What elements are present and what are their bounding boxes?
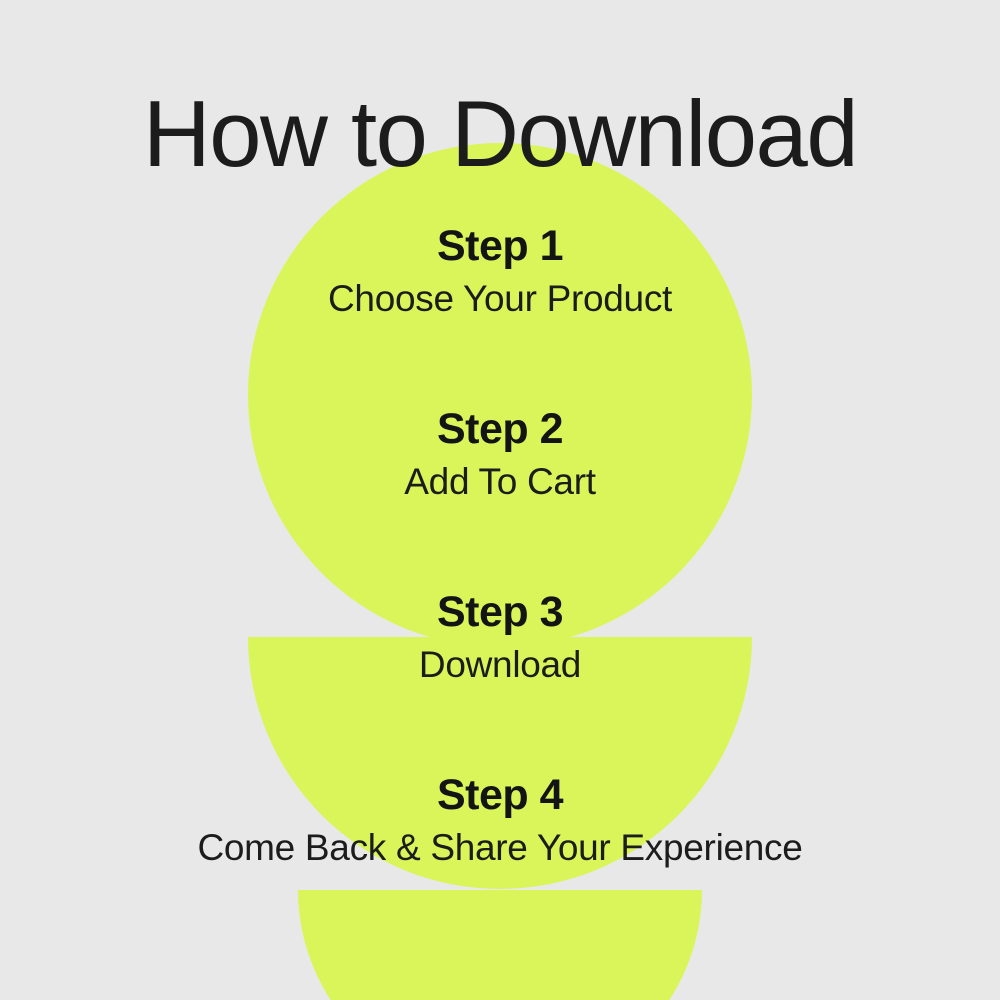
how-to-download-poster: How to Download Step 1 Choose Your Produ… — [0, 0, 1000, 1000]
step-3-heading: Step 3 — [0, 588, 1000, 636]
step-item-2: Step 2 Add To Cart — [0, 405, 1000, 504]
step-1-caption: Choose Your Product — [0, 277, 1000, 321]
step-1-heading: Step 1 — [0, 222, 1000, 270]
step-3-caption: Download — [0, 643, 1000, 687]
step-2-caption: Add To Cart — [0, 460, 1000, 504]
step-item-1: Step 1 Choose Your Product — [0, 222, 1000, 321]
step-4-heading: Step 4 — [0, 771, 1000, 819]
step-item-3: Step 3 Download — [0, 588, 1000, 687]
step-item-4: Step 4 Come Back & Share Your Experience — [0, 771, 1000, 870]
step-4-caption: Come Back & Share Your Experience — [0, 826, 1000, 870]
steps-list: Step 1 Choose Your Product Step 2 Add To… — [0, 0, 1000, 1000]
step-2-heading: Step 2 — [0, 405, 1000, 453]
